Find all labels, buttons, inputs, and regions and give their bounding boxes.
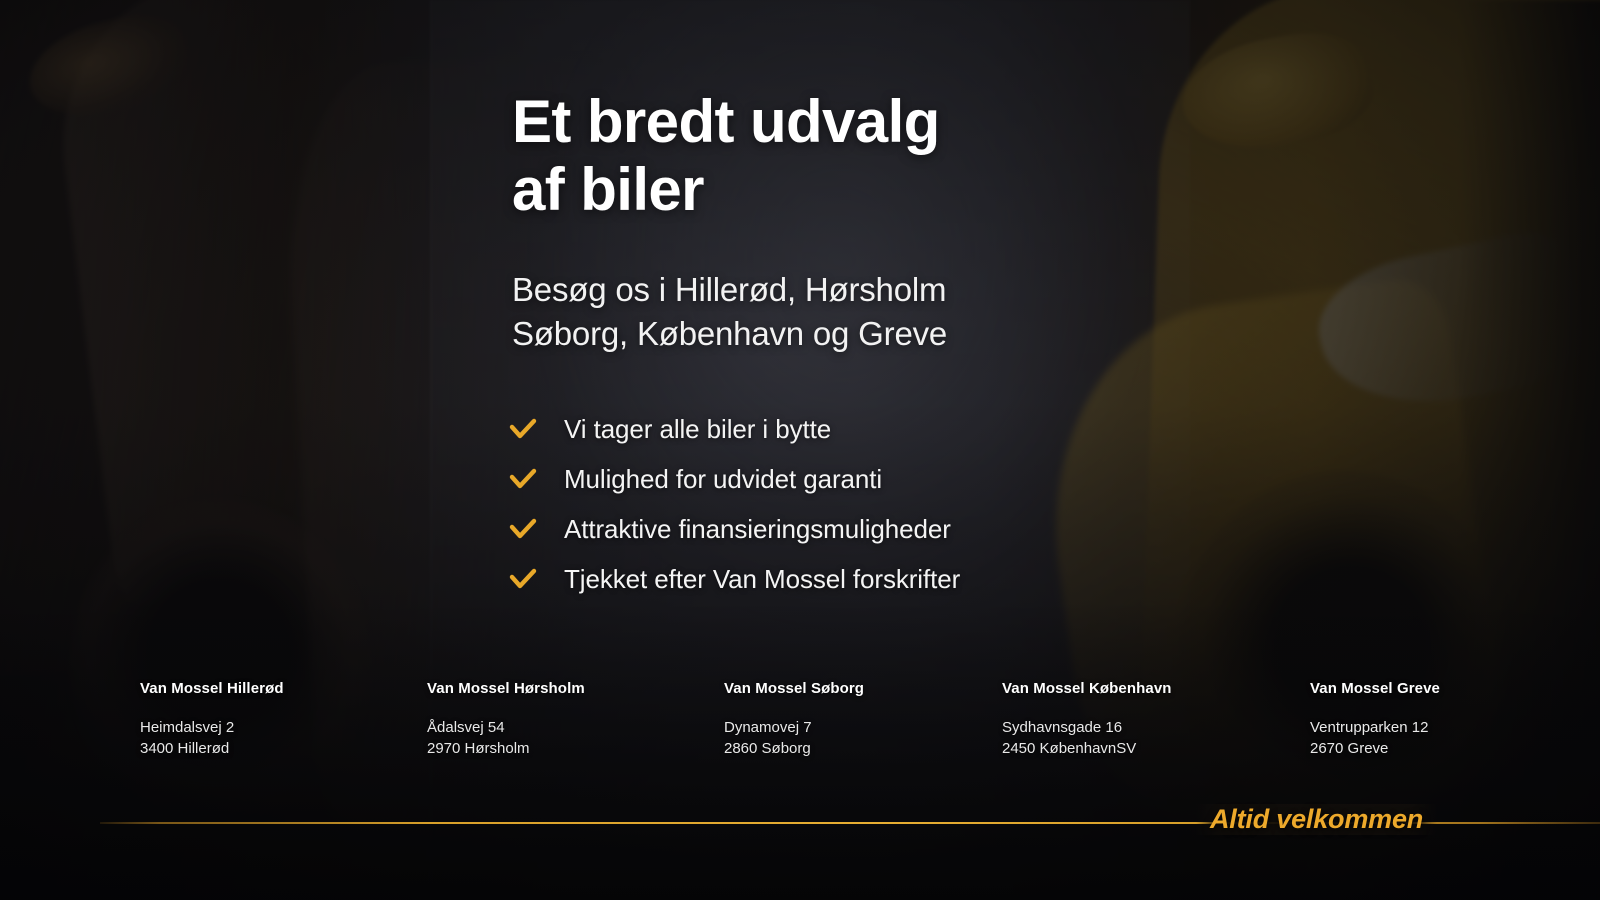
benefit-label: Tjekket efter Van Mossel forskrifter bbox=[564, 564, 960, 595]
location-address: Ventrupparken 12 2670 Greve bbox=[1310, 717, 1440, 760]
benefit-label: Attraktive finansieringsmuligheder bbox=[564, 514, 951, 545]
tagline: Altid velkommen bbox=[1196, 804, 1437, 835]
location-name: Van Mossel Søborg bbox=[724, 680, 864, 697]
location-address: Sydhavnsgade 16 2450 KøbenhavnSV bbox=[1002, 717, 1172, 760]
location-address: Ådalsvej 54 2970 Hørsholm bbox=[427, 717, 585, 760]
location-card-kobenhavn: Van Mossel København Sydhavnsgade 16 245… bbox=[1002, 680, 1172, 760]
location-address: Heimdalsvej 2 3400 Hillerød bbox=[140, 717, 284, 760]
location-name: Van Mossel Hørsholm bbox=[427, 680, 585, 697]
benefit-label: Mulighed for udvidet garanti bbox=[564, 464, 882, 495]
location-card-greve: Van Mossel Greve Ventrupparken 12 2670 G… bbox=[1310, 680, 1440, 760]
location-card-horsholm: Van Mossel Hørsholm Ådalsvej 54 2970 Hør… bbox=[427, 680, 585, 760]
location-card-hillerod: Van Mossel Hillerød Heimdalsvej 2 3400 H… bbox=[140, 680, 284, 760]
benefits-list: Vi tager alle biler i bytte Mulighed for… bbox=[508, 404, 960, 604]
benefit-label: Vi tager alle biler i bytte bbox=[564, 414, 831, 445]
list-item: Vi tager alle biler i bytte bbox=[508, 404, 960, 454]
list-item: Attraktive finansieringsmuligheder bbox=[508, 504, 960, 554]
check-icon bbox=[508, 414, 538, 444]
list-item: Mulighed for udvidet garanti bbox=[508, 454, 960, 504]
check-icon bbox=[508, 464, 538, 494]
location-card-soborg: Van Mossel Søborg Dynamovej 7 2860 Søbor… bbox=[724, 680, 864, 760]
location-address: Dynamovej 7 2860 Søborg bbox=[724, 717, 864, 760]
subheading: Besøg os i Hillerød, Hørsholm Søborg, Kø… bbox=[512, 268, 1132, 355]
banner-content: Et bredt udvalg af biler Besøg os i Hill… bbox=[0, 0, 1600, 900]
location-name: Van Mossel Greve bbox=[1310, 680, 1440, 697]
check-icon bbox=[508, 514, 538, 544]
headline: Et bredt udvalg af biler bbox=[512, 88, 1212, 225]
check-icon bbox=[508, 564, 538, 594]
dealership-locations: Van Mossel Hillerød Heimdalsvej 2 3400 H… bbox=[0, 680, 1600, 766]
list-item: Tjekket efter Van Mossel forskrifter bbox=[508, 554, 960, 604]
location-name: Van Mossel Hillerød bbox=[140, 680, 284, 697]
location-name: Van Mossel København bbox=[1002, 680, 1172, 697]
promo-banner: Et bredt udvalg af biler Besøg os i Hill… bbox=[0, 0, 1600, 900]
